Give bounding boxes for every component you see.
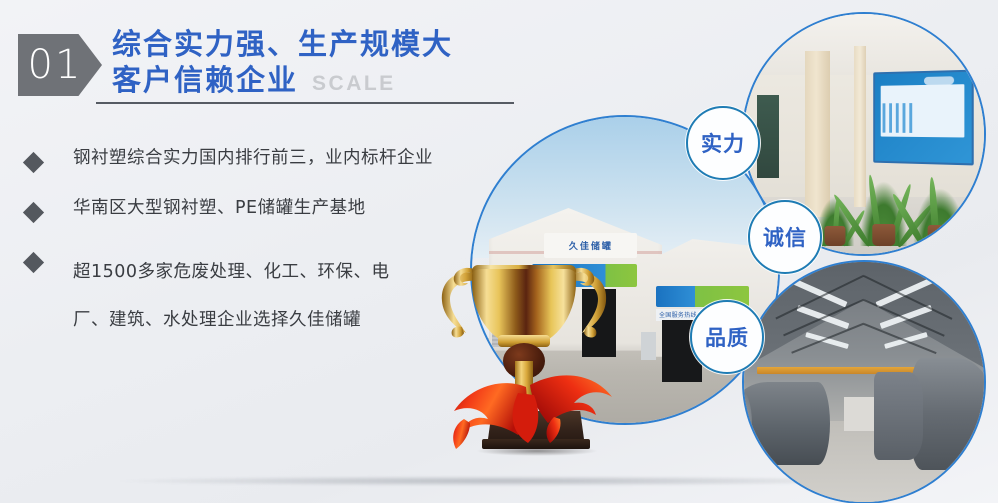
info-board-chart <box>883 103 915 133</box>
title-group: 综合实力强、生产规模大 客户信赖企业 SCALE <box>112 26 453 102</box>
label-bubble-strength-text: 实力 <box>701 128 745 158</box>
diamond-bullet-icon <box>23 252 44 273</box>
diamond-bullet-icon <box>23 202 44 223</box>
section-number-badge: 01 <box>18 34 102 96</box>
list-item: 华南区大型钢衬塑、PE储罐生产基地 <box>26 198 496 220</box>
trophy-handle-right <box>570 267 612 339</box>
promo-banner: 01 综合实力强、生产规模大 客户信赖企业 SCALE 钢衬塑综合实力国内排行前… <box>0 0 998 503</box>
title-divider <box>96 102 514 104</box>
factory-window <box>641 332 657 360</box>
trophy-graphic <box>424 243 624 465</box>
list-item: 钢衬塑综合实力国内排行前三，业内标杆企业 <box>26 148 496 170</box>
header-block: 01 综合实力强、生产规模大 客户信赖企业 SCALE <box>18 26 538 126</box>
diamond-bullet-icon <box>23 152 44 173</box>
skylight <box>806 332 850 349</box>
list-item-text: 华南区大型钢衬塑、PE储罐生产基地 <box>73 198 366 218</box>
list-item-line: 钢衬塑综合实力国内排行前三，业内标杆企业 <box>73 148 433 168</box>
warehouse-illustration <box>742 260 986 503</box>
title-suffix-label: SCALE <box>312 66 396 102</box>
photo-warehouse-interior <box>742 260 986 503</box>
label-bubble-integrity-text: 诚信 <box>763 222 807 252</box>
page-title-line2-row: 客户信赖企业 SCALE <box>112 62 453 102</box>
label-bubble-strength: 实力 <box>686 106 760 180</box>
trophy-red-ribbon <box>434 363 620 453</box>
list-item-line: 超1500多家危废处理、化工、环保、电 <box>73 248 390 296</box>
potted-plant <box>913 169 967 246</box>
storage-tank <box>742 382 830 465</box>
label-bubble-integrity: 诚信 <box>748 200 822 274</box>
storage-tank <box>874 372 923 460</box>
section-number-label: 01 <box>28 45 93 85</box>
list-item-line: 华南区大型钢衬塑、PE储罐生产基地 <box>73 198 366 218</box>
info-board-caption <box>924 76 954 84</box>
page-title-line1: 综合实力强、生产规模大 <box>112 26 453 62</box>
page-title-line2: 客户信赖企业 <box>112 62 298 98</box>
list-item-text: 钢衬塑综合实力国内排行前三，业内标杆企业 <box>73 148 433 168</box>
list-item-text: 超1500多家危废处理、化工、环保、电 厂、建筑、水处理企业选择久佳储罐 <box>73 248 390 344</box>
label-bubble-quality: 品质 <box>690 300 764 374</box>
list-item-line: 厂、建筑、水处理企业选择久佳储罐 <box>73 296 390 344</box>
label-bubble-quality-text: 品质 <box>705 322 749 352</box>
